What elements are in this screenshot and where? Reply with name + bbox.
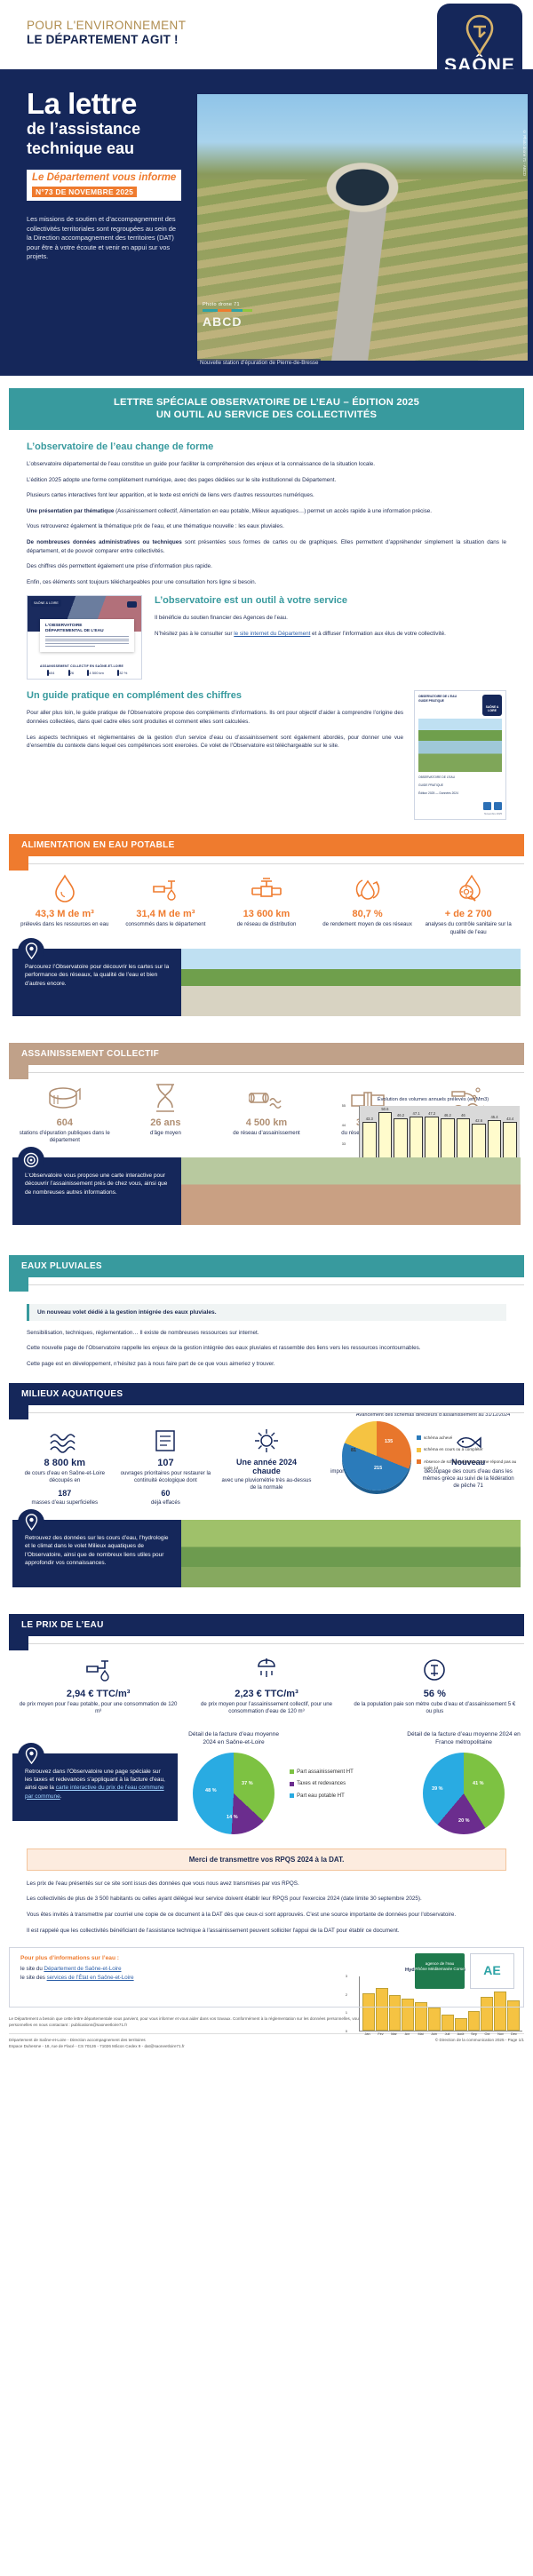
tool-heading: L’observatoire est un outil à votre serv… — [155, 595, 506, 606]
hy-bar-5 — [428, 2008, 441, 2031]
thumbnail-stat-1: 26 — [68, 671, 74, 675]
list-icon — [118, 1421, 214, 1453]
footnote: Les prix de l'eau présentés sur ce site … — [27, 1880, 506, 1935]
hourglass-icon — [118, 1081, 214, 1113]
prix-callout-b: . — [60, 1793, 62, 1800]
guide-text: Un guide pratique en complément des chif… — [27, 690, 403, 757]
sewer-pipe-icon — [219, 1081, 314, 1113]
section-alimentation-eau-potable: ALIMENTATION EN EAU POTABLE 43,3 M de m³… — [0, 834, 533, 1016]
thumbnail-stats: 604 26 4 500 km 32 % — [40, 671, 134, 675]
assain-kpi-1: 26 ans d’âge moyen — [115, 1081, 217, 1145]
aep-callout: Parcourez l’Observatoire pour découvrir … — [12, 949, 521, 1016]
footer-link-departement[interactable]: Département de Saône-et-Loire — [44, 1966, 121, 1972]
bar-label-2021: 42.6 — [475, 1118, 482, 1123]
legal-mid: Espace Duhesme - 18, rue de Flacé - CS 7… — [9, 2044, 524, 2050]
facture-legend-2: Part eau potable HT — [290, 1793, 403, 1800]
hy-xlabel-11: Déc — [508, 2032, 520, 2036]
pie-france-val-1: 20 % — [458, 1818, 470, 1824]
assain-kpi-value-0: 604 — [17, 1117, 113, 1128]
agence-eau-logo-line-2: Rhône Méditerranée Corse — [415, 1967, 464, 1971]
footnote-p3: Vous êtes invités à transmettre par cour… — [27, 1911, 506, 1920]
assain-kpi-label-0: stations d’épuration publiques dans le d… — [17, 1130, 113, 1145]
intro-p8: Enfin, ces éléments sont toujours téléch… — [27, 578, 506, 587]
aep-kpi-3: 80,7 % de rendement moyen de ces réseaux — [317, 872, 418, 936]
pie-france: Détail de la facture d’eau moyenne 2024 … — [407, 1730, 521, 1834]
tax-icon — [354, 1652, 516, 1684]
water-drop-icon — [17, 872, 113, 904]
hy-xlabel-9: Oct — [481, 2032, 493, 2036]
guide-p2: Les aspects techniques et réglementaires… — [27, 734, 403, 751]
tool-p2-b: et à diffuser l’information aux élus de … — [310, 631, 445, 637]
aep-kpi-label-1: consommés dans le département — [118, 921, 214, 928]
photo-watermark-word: ABCD — [203, 314, 252, 329]
site-departement-link[interactable]: le site internet du Département — [234, 631, 310, 637]
milieux-title-bar: MILIEUX AQUATIQUES — [9, 1383, 524, 1405]
footer-contact-box: Pour plus d’informations sur l’eau : le … — [9, 1947, 524, 2008]
milieux-kpi-value2-2: chaude — [219, 1467, 314, 1475]
aep-kpi-4: + de 2 700 analyses du contrôle sanitair… — [418, 872, 519, 936]
pluviales-title-bar: EAUX PLUVIALES — [9, 1255, 524, 1277]
magnifier-drop-icon — [420, 872, 516, 904]
hy-xlabel-8: Sep — [468, 2032, 480, 2036]
bar-label-2020: 46 — [461, 1113, 465, 1117]
bar-label-2018: 47.2 — [428, 1111, 435, 1116]
footnote-p4: Il est rappelé que les collectivités bén… — [27, 1927, 506, 1936]
prix-kpi-2: 56 % de la population paie son mètre cub… — [351, 1652, 519, 1716]
pie-saone-circle: 37 % 14 % 48 % — [193, 1753, 274, 1834]
facture-legend-label-1: Taxes et redevances — [297, 1781, 346, 1787]
thumbnail-card: L’OBSERVATOIRE DÉPARTEMENTAL DE L’EAU — [40, 619, 134, 652]
masthead-kicker: POUR L'ENVIRONNEMENT — [27, 19, 186, 32]
thumbnail-stat-value-3: 32 % — [119, 671, 127, 675]
agence-eau-logo: agence de l’eau Rhône Méditerranée Corse — [415, 1953, 465, 1989]
thumbnail-stat-value-0: 604 — [49, 671, 55, 675]
facture-legend-0: Part assainissement HT — [290, 1769, 403, 1776]
observatoire-thumbnail[interactable]: SAÔNE & LOIRE L’OBSERVATOIRE DÉPARTEMENT… — [27, 595, 142, 680]
pluviales-rule-square — [9, 1277, 28, 1292]
issue-badge-main: Le Département vous informe — [32, 172, 176, 183]
assain-callout: L’Observatoire vous propose une carte in… — [12, 1157, 521, 1225]
photo-watermark-bar — [203, 309, 252, 312]
pluviales-p1: Sensibilisation, techniques, réglementat… — [27, 1329, 506, 1338]
milieux-callout: Retrouvez des données sur les cours d’ea… — [12, 1520, 521, 1587]
thumbnail-footer: ASSAINISSEMENT COLLECTIF EN SAÔNE-ET-LOI… — [40, 664, 134, 675]
intro-section: L’observatoire de l’eau change de forme … — [27, 441, 506, 586]
intro-p6-bold: De nombreuses données administratives ou… — [27, 539, 182, 545]
pie-france-val-2: 39 % — [432, 1786, 443, 1792]
prix-rule-square — [9, 1636, 28, 1650]
aep-kpi-label-4: analyses du contrôle sanitaire sur la qu… — [420, 921, 516, 936]
thumbnail-stat-0: 604 — [47, 671, 55, 675]
aep-rule — [9, 856, 524, 872]
tool-p2-a: N’hésitez pas à le consulter sur — [155, 631, 234, 637]
pie-france-circle: 41 % 20 % 39 % — [423, 1753, 505, 1834]
assain-pie-circle: 135 215 81 — [342, 1421, 411, 1491]
prix-kpi-value-1: 2,23 € TTC/m³ — [185, 1689, 347, 1699]
bar-label-2014: 43.3 — [366, 1117, 373, 1121]
footer-line-1-a: le site du — [20, 1966, 44, 1972]
intro-p2: L’édition 2025 adopte une forme complète… — [27, 476, 506, 485]
thumbnail-card-title-2: DÉPARTEMENTAL DE L’EAU — [45, 629, 129, 634]
hy-xlabel-7: Août — [455, 2032, 466, 2036]
sun-icon — [219, 1421, 314, 1453]
prix-kpi-row: 2,94 € TTC/m³ de prix moyen pour l’eau p… — [14, 1652, 519, 1716]
assain-kpi-label-2: de réseau d’assainissement — [219, 1130, 314, 1137]
milieux-callout-image — [181, 1520, 521, 1587]
guide-cover-caption-1: OBSERVATOIRE DE L’EAU — [418, 775, 502, 780]
assain-callout-image — [181, 1157, 521, 1225]
pie-france-val-0: 41 % — [473, 1781, 484, 1786]
pluviales-rule — [9, 1277, 524, 1293]
assain-pie-legend: schéma achevé schéma en cours ou à compl… — [417, 1435, 524, 1477]
treatment-plant-icon — [17, 1081, 113, 1113]
agence-eau-logo-line-1: agence de l’eau — [426, 1961, 454, 1966]
issue-badge: Le Département vous informe N°73 DE NOVE… — [27, 170, 181, 201]
milieux-kpi-value2-1: 60 — [118, 1489, 214, 1498]
bar-label-2017: 47.1 — [413, 1111, 420, 1116]
guide-heading: Un guide pratique en complément des chif… — [27, 690, 403, 701]
pie-saone-val-2: 48 % — [205, 1788, 217, 1793]
legend-item-1: schéma en cours ou à compléter — [417, 1447, 524, 1453]
prix-kpi-1: 2,23 € TTC/m³ de prix moyen pour l’assai… — [182, 1652, 350, 1716]
intro-p7: Des chiffres clés permettent également u… — [27, 562, 506, 571]
milieux-rule-square — [9, 1405, 28, 1419]
guide-cover-caption-2: GUIDE PRATIQUE — [418, 783, 502, 788]
hero-photo-treatment-plant — [297, 142, 429, 233]
guide-cover-kicker-2: GUIDE PRATIQUE — [418, 699, 457, 703]
intro-p3: Plusieurs cartes interactives font leur … — [27, 491, 506, 500]
assain-kpi-value-2: 4 500 km — [219, 1117, 314, 1128]
prix-kpi-label-1: de prix moyen pour l’assainissement coll… — [185, 1701, 347, 1716]
aep-kpi-label-2: de réseau de distribution — [219, 921, 314, 928]
guide-cover-kicker: OBSERVATOIRE DE L’EAU GUIDE PRATIQUE — [418, 695, 457, 703]
assain-kpi-0: 604 stations d’épuration publiques dans … — [14, 1081, 115, 1145]
milieux-kpi-label2-1: déjà effacés — [118, 1499, 214, 1507]
legend-label-1: schéma en cours ou à compléter — [424, 1447, 483, 1453]
bar-label-2015: 50.6 — [381, 1107, 388, 1111]
yield-cycle-icon — [320, 872, 416, 904]
bar-label-2019: 46.2 — [444, 1113, 451, 1117]
aep-kpi-label-3: de rendement moyen de ces réseaux — [320, 921, 416, 928]
milieux-kpi-value2-0: 187 — [17, 1489, 113, 1498]
hy-xlabel-6: Juil — [442, 2032, 453, 2036]
pie-saone-title: Détail de la facture d’eau moyenne 2024 … — [181, 1730, 286, 1747]
legal-left: Département de Saône-et-Loire - Directio… — [9, 2038, 146, 2042]
prix-rule — [9, 1636, 524, 1652]
banner-line-2: UN OUTIL AU SERVICE DES COLLECTIVITÉS — [14, 409, 519, 421]
assain-kpi-label-1: d’âge moyen — [118, 1130, 214, 1137]
hy-xlabel-10: Nov — [495, 2032, 506, 2036]
assain-title-bar: ASSAINISSEMENT COLLECTIF — [9, 1043, 524, 1065]
milieux-kpi-0: 8 800 km de cours d’eau en Saône-et-Loir… — [14, 1421, 115, 1507]
hero-subtitle-1: de l’assistance — [27, 120, 180, 138]
guide-cover-partner-logos — [418, 802, 502, 810]
map-pin-icon — [18, 1743, 44, 1769]
tool-p1: Il bénéficie du soutien financier des Ag… — [155, 614, 506, 623]
guide-cover-logo: SAÔNE & LOIRE — [482, 695, 502, 716]
tool-section: SAÔNE & LOIRE L’OBSERVATOIRE DÉPARTEMENT… — [27, 595, 506, 680]
masthead: POUR L'ENVIRONNEMENT LE DÉPARTEMENT AGIT… — [0, 0, 533, 69]
thumbnail-footer-title: ASSAINISSEMENT COLLECTIF EN SAÔNE-ET-LOI… — [40, 664, 134, 668]
facture-legend-1: Taxes et redevances — [290, 1781, 403, 1787]
bar-label-2023: 43.4 — [506, 1117, 513, 1121]
pie-france-title: Détail de la facture d’eau moyenne 2024 … — [407, 1730, 521, 1747]
pluviales-text: Sensibilisation, techniques, réglementat… — [27, 1329, 506, 1369]
thumbnail-menu-icon — [127, 601, 137, 608]
aep-kpi-value-1: 31,4 M de m³ — [118, 909, 214, 919]
footer-link-etat[interactable]: services de l’État en Saône-et-Loire — [47, 1975, 134, 1981]
aep-kpi-row: 43,3 M de m³ prélevés dans les ressource… — [14, 872, 519, 936]
guide-section: Un guide pratique en complément des chif… — [27, 690, 506, 820]
thumbnail-stat-value-2: 4 500 km — [89, 671, 103, 675]
milieux-kpi-value-1: 107 — [118, 1458, 214, 1468]
prix-kpi-value-0: 2,94 € TTC/m³ — [17, 1689, 179, 1699]
legal-right: © Direction de la communication 2025 - P… — [435, 2038, 524, 2042]
thumbnail-stat-3: 32 % — [117, 671, 127, 675]
aep-callout-image — [181, 949, 521, 1016]
valve-icon — [219, 872, 314, 904]
assain-kpi-2: 4 500 km de réseau d’assainissement — [216, 1081, 317, 1145]
pluviales-new-label: Un nouveau volet dédié à la gestion inté… — [27, 1304, 506, 1321]
thumbnail-stat-value-1: 26 — [70, 671, 74, 675]
map-pin-icon — [18, 938, 44, 965]
guide-cover-caption-3: Édition 2025 — Données 2024 — [418, 791, 502, 796]
hy-xlabel-0: Jan — [362, 2032, 373, 2036]
tool-p2: N’hésitez pas à le consulter sur le site… — [155, 630, 506, 639]
guide-cover-image — [418, 719, 502, 772]
bar-label-2016: 46.2 — [397, 1113, 404, 1117]
pie-value-135: 135 — [385, 1439, 393, 1444]
bar-label-2022: 45.4 — [490, 1115, 497, 1119]
tap-icon — [118, 872, 214, 904]
thumbnail-text-lines — [45, 636, 129, 647]
aep-kpi-label-0: prélevés dans les ressources en eau — [17, 921, 113, 928]
aep-kpi-value-0: 43,3 M de m³ — [17, 909, 113, 919]
intro-heading: L’observatoire de l’eau change de forme — [27, 441, 506, 452]
thanks-banner: Merci de transmettre vos RPQS 2024 à la … — [27, 1849, 506, 1871]
pie-value-215: 215 — [374, 1466, 382, 1471]
pluviales-p2: Cette nouvelle page de l’Observatoire ra… — [27, 1344, 506, 1353]
milieux-kpi-label2-0: masses d’eau superficielles — [17, 1499, 113, 1507]
hy-xlabel-3: Avr — [402, 2032, 413, 2036]
waves-icon — [17, 1421, 113, 1453]
intro-p4-rest: (Assainissement collectif, Alimentation … — [114, 508, 432, 514]
pie-value-81: 81 — [351, 1448, 356, 1453]
pluviales-p3: Cette page est en développement, n’hésit… — [27, 1360, 506, 1369]
banner-line-1: LETTRE SPÉCIALE OBSERVATOIRE DE L’EAU – … — [14, 396, 519, 409]
hy-xlabel-2: Mar — [388, 2032, 400, 2036]
hy-bar-8 — [468, 2011, 481, 2031]
facture-legend: Part assainissement HT Taxes et redevanc… — [290, 1730, 403, 1806]
aep-kpi-1: 31,4 M de m³ consommés dans le départeme… — [115, 872, 217, 936]
footnote-p2: Les collectivités de plus de 3 500 habit… — [27, 1895, 506, 1904]
partner-logo-2-icon — [494, 802, 502, 810]
legend-item-2: Absence de schéma directeur ou ne répond… — [417, 1459, 524, 1471]
intro-p4-bold: Une présentation par thématique — [27, 508, 114, 514]
masthead-title: LE DÉPARTEMENT AGIT ! — [27, 33, 179, 46]
milieux-kpi-label-1: ouvrages prioritaires pour restaurer la … — [118, 1470, 214, 1485]
prix-kpi-label-0: de prix moyen pour l’eau potable, pour u… — [17, 1701, 179, 1716]
section-prix-de-leau: LE PRIX DE L’EAU 2,94 € TTC/m³ de prix m… — [0, 1614, 533, 1834]
photo-watermark: Photo drone 71 ABCD — [203, 302, 252, 329]
footer-logos: agence de l’eau Rhône Méditerranée Corse… — [415, 1953, 514, 1989]
assain-rule — [9, 1065, 524, 1081]
aep-kpi-value-3: 80,7 % — [320, 909, 416, 919]
milieux-kpi-2: Une année 2024 chaude avec une pluviomét… — [216, 1421, 317, 1507]
hero: La lettre de l’assistance technique eau … — [0, 69, 533, 376]
assain-pie-graphic: 135 215 81 — [342, 1421, 411, 1491]
facture-legend-label-2: Part eau potable HT — [297, 1793, 345, 1800]
tap-price-icon — [17, 1652, 179, 1684]
intro-p1: L’observatoire départemental de l’eau co… — [27, 460, 506, 469]
legend-item-0: schéma achevé — [417, 1435, 524, 1442]
saone-loire-emblem-icon — [462, 14, 497, 55]
assain-rule-square — [9, 1065, 28, 1079]
milieux-kpi-value-0: 8 800 km — [17, 1458, 113, 1468]
prix-kpi-0: 2,94 € TTC/m³ de prix moyen pour l’eau p… — [14, 1652, 182, 1716]
pie-saone-val-0: 37 % — [242, 1781, 253, 1786]
assain-schemas-pie: Avancement des schémas directeurs d’assa… — [342, 1412, 524, 1491]
prix-callout: Retrouvez dans l'Observatoire une page s… — [12, 1753, 178, 1821]
hy-xlabel-1: Fév — [375, 2032, 386, 2036]
assain-kpi-value-1: 26 ans — [118, 1117, 214, 1128]
hero-subtitle-2: technique eau — [27, 139, 180, 157]
guide-cover-thumbnail[interactable]: OBSERVATOIRE DE L’EAU GUIDE PRATIQUE SAÔ… — [414, 690, 506, 820]
aep-kpi-value-4: + de 2 700 — [420, 909, 516, 919]
legend-label-2: Absence de schéma directeur ou ne répond… — [424, 1459, 524, 1471]
aep-chart-title: Évolution des volumes annuels prélevés (… — [346, 1097, 520, 1103]
photo-watermark-title: Photo drone 71 — [203, 302, 252, 307]
prix-title-bar: LE PRIX DE L’EAU — [9, 1614, 524, 1636]
hydraulicite-xaxis: Jan Fév Mar Avr Mai Juin Juil Août Sep O… — [359, 2031, 522, 2036]
issue-badge-number: N°73 DE NOVEMBRE 2025 — [32, 187, 137, 197]
pie-saone-val-1: 14 % — [227, 1815, 238, 1820]
thumbnail-logo-badge: SAÔNE & LOIRE — [31, 600, 61, 607]
intro-p6: De nombreuses données administratives ou… — [27, 538, 506, 555]
aep-kpi-2: 13 600 km de réseau de distribution — [216, 872, 317, 936]
hero-photo-caption: Nouvelle station d’épuration de Pierre-d… — [197, 359, 321, 367]
intro-p4: Une présentation par thématique (Assaini… — [27, 507, 506, 516]
hero-title: La lettre — [27, 89, 180, 118]
guide-cover-head: OBSERVATOIRE DE L’EAU GUIDE PRATIQUE SAÔ… — [418, 695, 502, 716]
photo-credit: © Photo drone 71 - ABCD — [522, 130, 527, 176]
shower-icon — [185, 1652, 347, 1684]
guide-p1: Pour aller plus loin, le guide pratique … — [27, 709, 403, 726]
milieux-kpi-1: 107 ouvrages prioritaires pour restaurer… — [115, 1421, 217, 1507]
guide-cover-date: Novembre 2025 — [418, 812, 502, 815]
map-pin-icon — [18, 1509, 44, 1536]
footer-line-2-a: le site des — [20, 1975, 47, 1981]
footnote-p1: Les prix de l'eau présentés sur ce site … — [27, 1880, 506, 1888]
target-icon — [18, 1147, 44, 1173]
hero-left-panel: La lettre de l’assistance technique eau … — [0, 69, 200, 376]
hero-photo: Photo drone 71 ABCD © Photo drone 71 - A… — [197, 94, 528, 361]
tool-text: L’observatoire est un outil à votre serv… — [155, 595, 506, 645]
milieux-kpi-value-2: Une année 2024 — [219, 1458, 314, 1467]
thumbnail-stat-2: 4 500 km — [87, 671, 103, 675]
aep-rule-square — [9, 856, 28, 871]
section-eaux-pluviales: EAUX PLUVIALES Un nouveau volet dédié à … — [0, 1255, 533, 1369]
intro-p5: Vous retrouverez également la thématique… — [27, 522, 506, 531]
hero-intro-text: Les missions de soutien et d’accompagnem… — [27, 215, 180, 262]
aep-kpi-value-2: 13 600 km — [219, 909, 314, 919]
hy-bar-6 — [442, 2015, 454, 2031]
aep-kpi-0: 43,3 M de m³ prélevés dans les ressource… — [14, 872, 115, 936]
legend-label-0: schéma achevé — [424, 1435, 452, 1442]
aep-title-bar: ALIMENTATION EN EAU POTABLE — [9, 834, 524, 856]
prix-kpi-label-2: de la population paie son mètre cube d’e… — [354, 1701, 516, 1716]
partner-logo-1-icon — [483, 802, 491, 810]
milieux-rule — [9, 1405, 524, 1421]
milieux-kpi-label-0: de cours d’eau en Saône-et-Loire découpé… — [17, 1470, 113, 1485]
facture-pies-row: Retrouvez dans l'Observatoire une page s… — [12, 1730, 521, 1834]
pie-saone-loire: Détail de la facture d’eau moyenne 2024 … — [181, 1730, 286, 1834]
facture-legend-label-0: Part assainissement HT — [297, 1769, 354, 1776]
prix-callout-col: Retrouvez dans l'Observatoire une page s… — [12, 1730, 178, 1821]
prix-kpi-value-2: 56 % — [354, 1689, 516, 1699]
hy-bar-7 — [455, 2018, 467, 2031]
agence-eau-loire-logo: AE — [470, 1953, 514, 1989]
milieux-kpi-label-2: avec une pluviométrie très au-dessus de … — [219, 1477, 314, 1492]
hy-xlabel-4: Mai — [415, 2032, 426, 2036]
special-issue-banner: LETTRE SPÉCIALE OBSERVATOIRE DE L’EAU – … — [9, 388, 524, 430]
hy-xlabel-5: Juin — [428, 2032, 440, 2036]
